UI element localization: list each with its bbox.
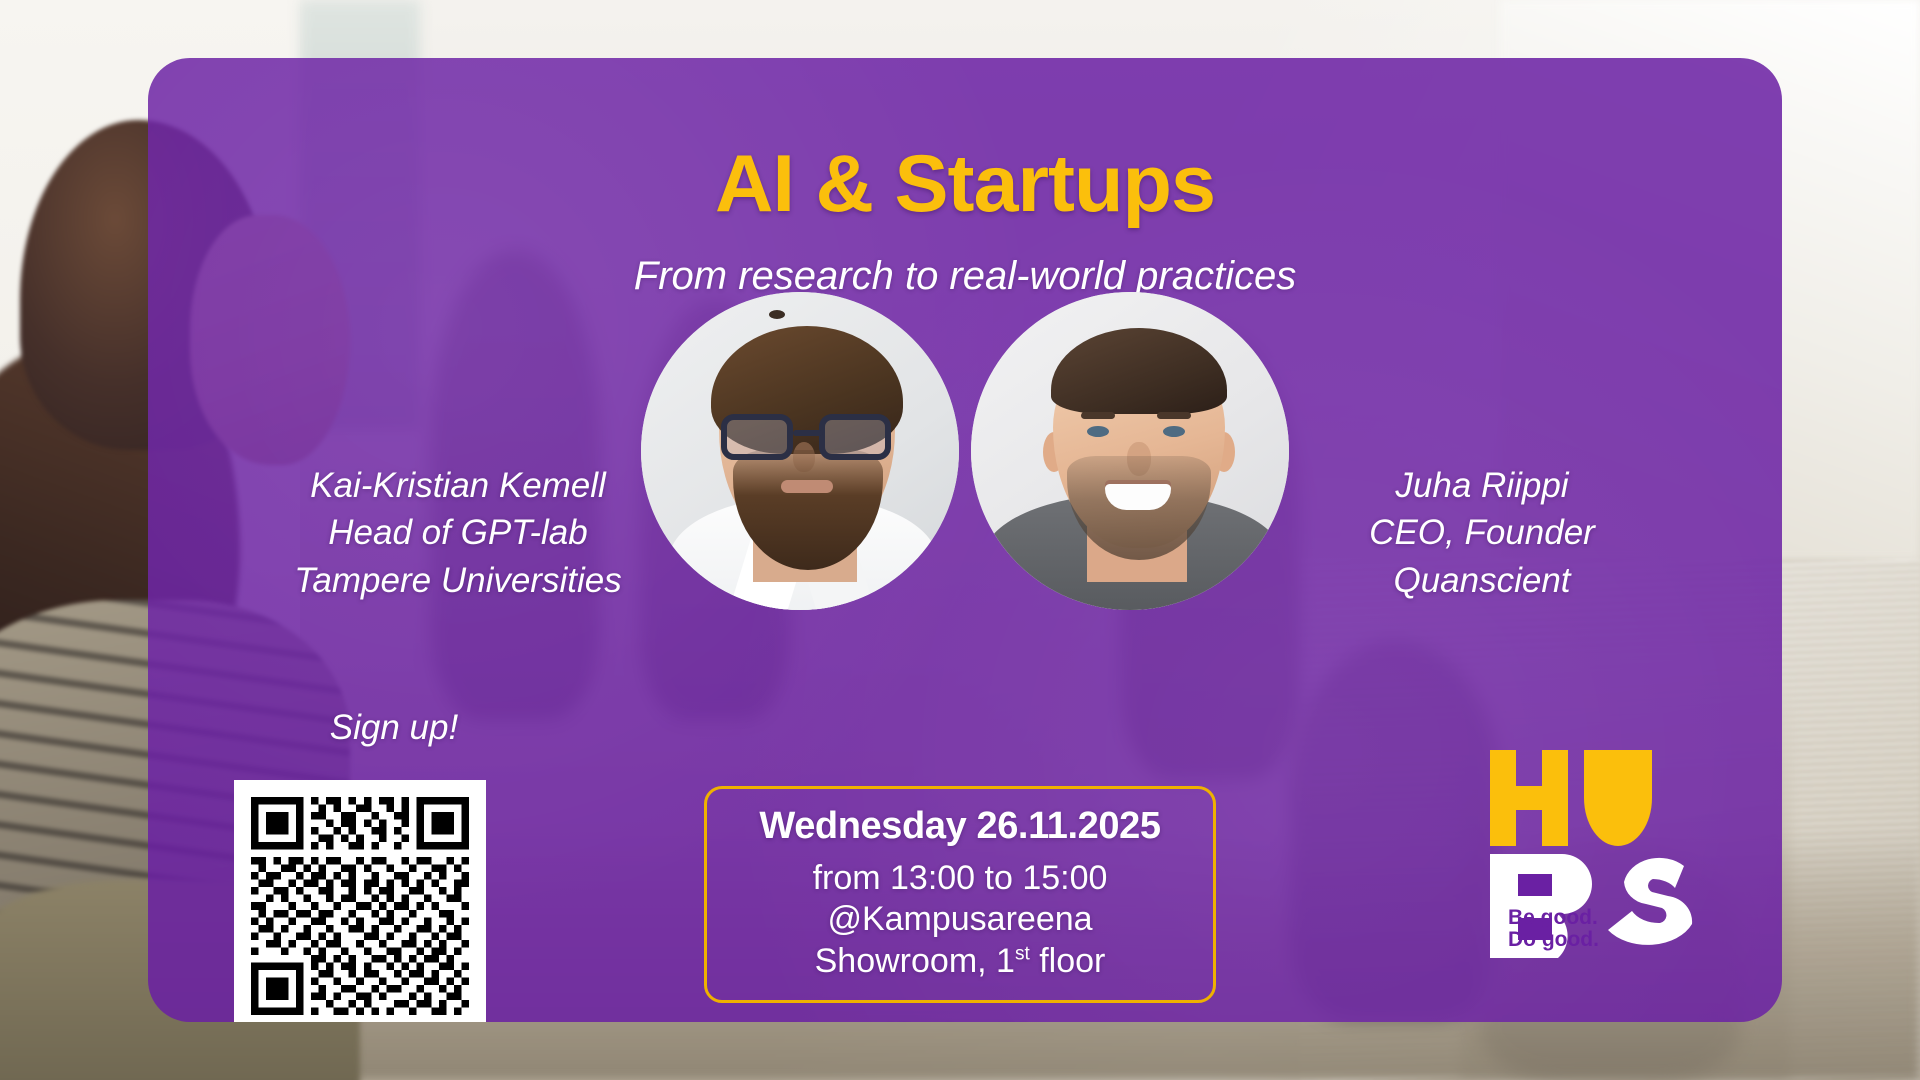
speaker-name: Kai-Kristian Kemell: [178, 462, 738, 509]
event-venue: @Kampusareena: [721, 899, 1199, 940]
speaker-name: Juha Riippi: [1202, 462, 1762, 509]
event-date: Wednesday 26.11.2025: [721, 805, 1199, 848]
speaker-info-right: Juha Riippi CEO, Founder Quanscient: [1202, 462, 1762, 604]
logo-tagline-line2: Do good.: [1508, 928, 1599, 951]
purple-overlay-card: AI & Startups From research to real-worl…: [148, 58, 1782, 1022]
qr-code[interactable]: [234, 780, 486, 1022]
speaker-info-left: Kai-Kristian Kemell Head of GPT-lab Tamp…: [178, 462, 738, 604]
event-room-suffix: floor: [1030, 942, 1106, 980]
signup-label: Sign up!: [244, 708, 544, 748]
logo-tagline-line1: Be good.: [1508, 906, 1598, 929]
speaker-role: Head of GPT-lab: [178, 509, 738, 556]
event-time: from 13:00 to 15:00: [721, 858, 1199, 899]
event-room-prefix: Showroom, 1: [815, 942, 1015, 980]
hubs-logo: Be good. Do good.: [1488, 748, 1698, 960]
page-title: AI & Startups: [148, 138, 1782, 231]
event-url[interactable]: https://hubs.fi/events: [704, 1018, 1216, 1022]
qr-code-icon: [251, 797, 469, 1015]
event-room: Showroom, 1st floor: [721, 941, 1199, 982]
hubs-logo-icon: Be good. Do good.: [1488, 748, 1698, 960]
speaker-org: Quanscient: [1202, 557, 1762, 604]
speaker-org: Tampere Universities: [178, 557, 738, 604]
event-details-box: Wednesday 26.11.2025 from 13:00 to 15:00…: [704, 786, 1216, 1003]
speaker-role: CEO, Founder: [1202, 509, 1762, 556]
event-poster: AI & Startups From research to real-worl…: [0, 0, 1920, 1080]
event-room-ordinal: st: [1015, 944, 1030, 965]
